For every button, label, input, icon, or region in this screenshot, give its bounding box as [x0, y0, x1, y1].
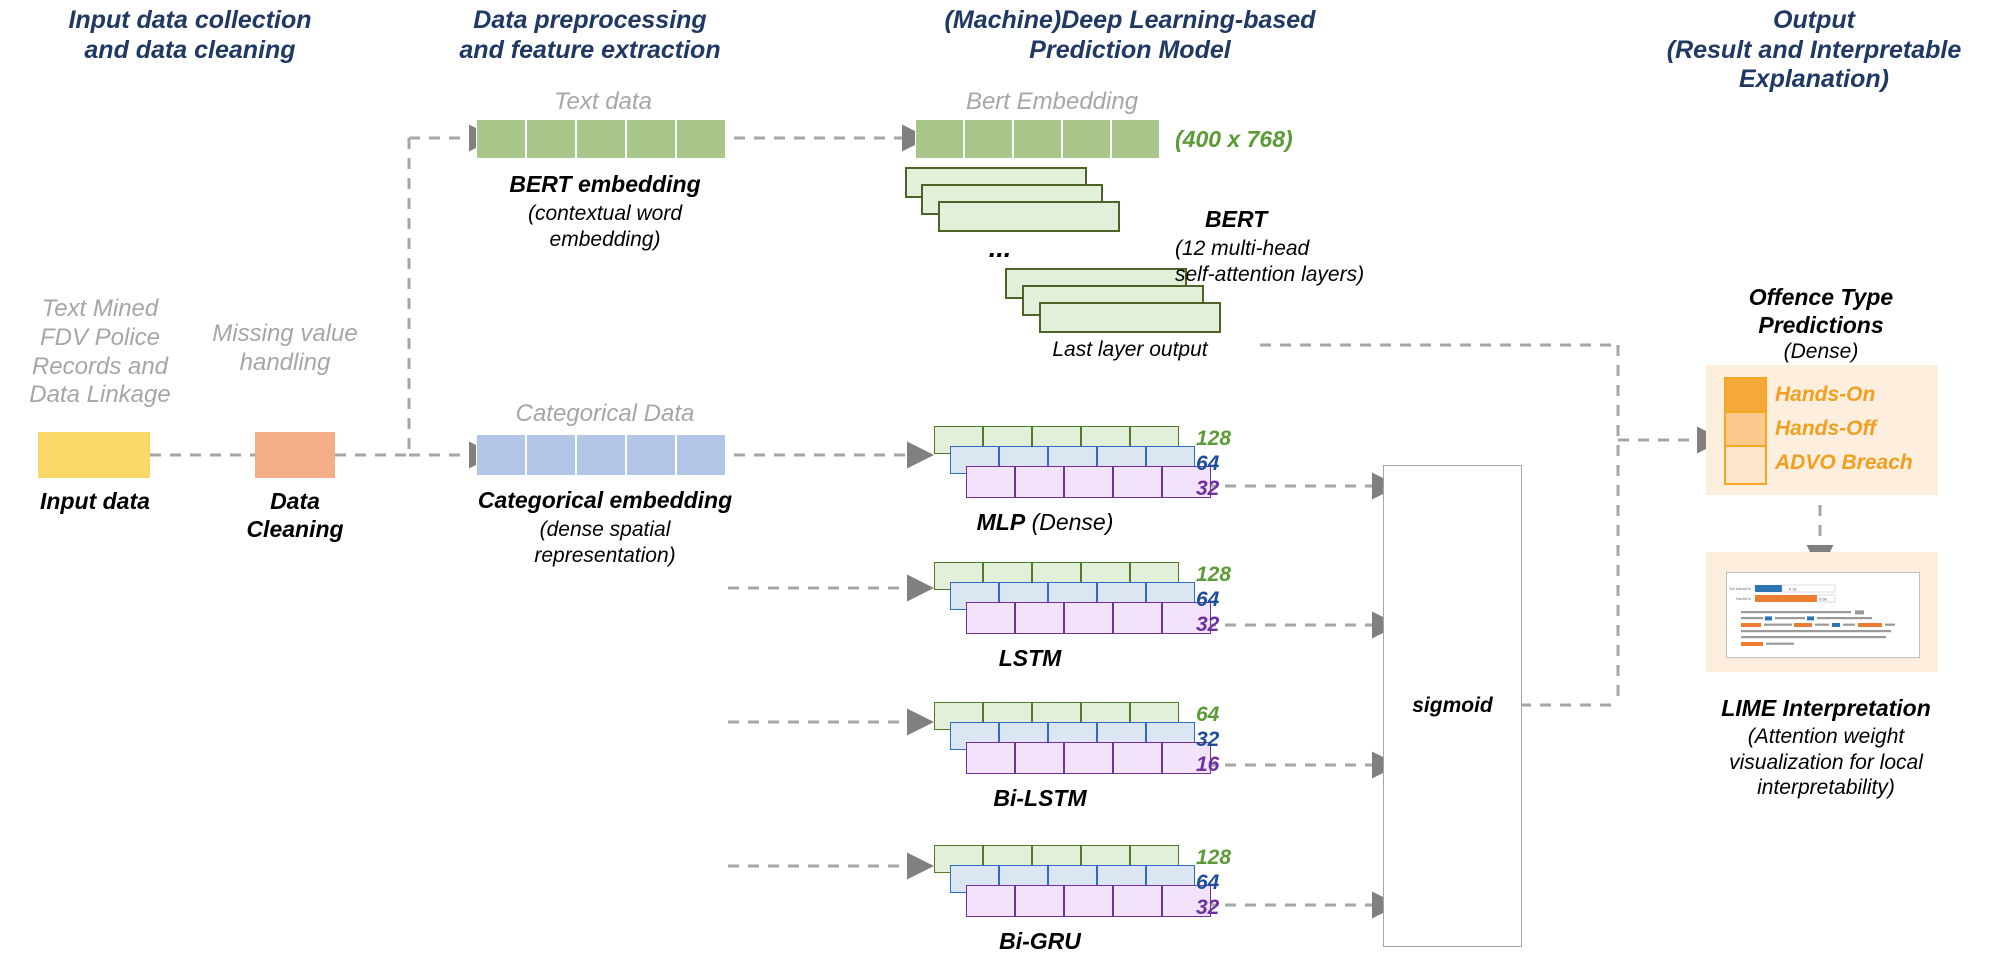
- prediction-label-advo-breach-text: ADVO Breach: [1775, 451, 1913, 474]
- mlp-dim-128: 128: [1196, 427, 1231, 451]
- prediction-label-hands-off-text: Hands-Off: [1775, 417, 1876, 440]
- text-data-header: Text data: [472, 88, 734, 117]
- text-data-cells[interactable]: [476, 119, 726, 159]
- input-data-box[interactable]: [38, 432, 150, 478]
- phase-header-model: (Machine)Deep Learning-based Prediction …: [930, 6, 1330, 65]
- bert-model-title: BERT: [1205, 206, 1267, 232]
- input-source-note: Text Mined FDV Police Records and Data L…: [10, 295, 190, 410]
- phase-header-preprocess: Data preprocessing and feature extractio…: [420, 6, 760, 65]
- lime-sub3: interpretability): [1757, 776, 1895, 799]
- mlp-dim-32: 32: [1196, 477, 1219, 501]
- phase-header-output: Output (Result and Interpretable Explana…: [1620, 6, 2008, 95]
- input-source-note-l1: Text Mined: [10, 295, 190, 324]
- lime-sub1: (Attention weight: [1748, 725, 1904, 748]
- bert-embedding-caption: BERT embedding (contextual word embeddin…: [455, 170, 755, 252]
- bilstm-dim-64: 64: [1196, 703, 1219, 727]
- predictions-title-l2: Predictions: [1758, 312, 1883, 338]
- lstm-dim-128-text: 128: [1196, 563, 1231, 586]
- phase-header-output-line1: Output: [1620, 6, 2008, 36]
- prediction-label-advo-breach: ADVO Breach: [1775, 451, 1913, 475]
- bilstm-dim-16-text: 16: [1196, 753, 1219, 776]
- prediction-label-hands-on: Hands-On: [1775, 383, 1875, 407]
- svg-text:HandsOn: HandsOn: [1736, 597, 1751, 601]
- prediction-cell-advo-breach[interactable]: [1724, 445, 1767, 485]
- lstm-title: LSTM: [999, 645, 1062, 671]
- bert-shape-text: (400 x 768): [1175, 126, 1293, 152]
- lstm-dim-64: 64: [1196, 588, 1219, 612]
- bigru-dim-64: 64: [1196, 871, 1219, 895]
- svg-text:Not HandsOn: Not HandsOn: [1729, 587, 1751, 591]
- svg-text:0.68: 0.68: [1819, 597, 1828, 602]
- categorical-embedding-caption: Categorical embedding (dense spatial rep…: [425, 486, 785, 568]
- lstm-dim-64-text: 64: [1196, 588, 1219, 611]
- bert-ellipsis-text: ...: [989, 233, 1012, 263]
- bigru-dim-128-text: 128: [1196, 846, 1231, 869]
- lstm-dim-32-text: 32: [1196, 613, 1219, 636]
- bert-ellipsis: ...: [960, 232, 1040, 265]
- phase-header-input-line1: Input data collection: [30, 6, 350, 36]
- bilstm-layer-purple: [966, 742, 1211, 774]
- bigru-dim-128: 128: [1196, 846, 1231, 870]
- phase-header-model-line2: Prediction Model: [930, 36, 1330, 66]
- predictions-title-l1: Offence Type: [1749, 284, 1893, 310]
- mlp-title: MLP: [977, 509, 1026, 535]
- prediction-label-hands-off: Hands-Off: [1775, 417, 1876, 441]
- bert-last-layer-label: Last layer output: [1000, 337, 1260, 363]
- bert-model-caption: BERT (12 multi-head self-attention layer…: [1175, 205, 1475, 287]
- bert-embedding-sub1: (contextual word: [528, 202, 682, 225]
- bilstm-dim-32: 32: [1196, 728, 1219, 752]
- lstm-dim-128: 128: [1196, 563, 1231, 587]
- bert-embedding-cells[interactable]: [915, 119, 1160, 159]
- lstm-caption: LSTM: [930, 644, 1130, 672]
- data-cleaning-label-l2: Cleaning: [246, 516, 343, 542]
- phase-header-model-line1: (Machine)Deep Learning-based: [930, 6, 1330, 36]
- bert-embedding-sub2: embedding): [550, 228, 661, 251]
- bigru-caption: Bi-GRU: [930, 927, 1150, 955]
- bert-model-sub2: self-attention layers): [1175, 263, 1364, 286]
- sigmoid-box[interactable]: sigmoid: [1383, 465, 1522, 947]
- cleaning-note-l2: handling: [185, 349, 385, 378]
- bigru-dim-64-text: 64: [1196, 871, 1219, 894]
- lime-thumbnail[interactable]: Not HandsOn HandsOn 0.32 0.68: [1726, 572, 1920, 658]
- predictions-subtitle: (Dense): [1784, 340, 1859, 363]
- categorical-data-cells[interactable]: [476, 434, 726, 476]
- data-cleaning-label: Data Cleaning: [205, 487, 385, 543]
- bilstm-dim-32-text: 32: [1196, 728, 1219, 751]
- phase-header-input: Input data collection and data cleaning: [30, 6, 350, 65]
- mlp-layer-purple: [966, 466, 1211, 498]
- phase-header-preprocess-line1: Data preprocessing: [420, 6, 760, 36]
- mlp-dim-128-text: 128: [1196, 427, 1231, 450]
- bilstm-dim-64-text: 64: [1196, 703, 1219, 726]
- input-data-label-text: Input data: [40, 488, 150, 514]
- input-source-note-l3: Records and: [10, 353, 190, 382]
- bert-embedding-header: Bert Embedding: [912, 88, 1192, 117]
- sigmoid-label: sigmoid: [1384, 694, 1521, 718]
- categorical-embedding-sub1: (dense spatial: [540, 518, 671, 541]
- categorical-embedding-sub2: representation): [534, 544, 675, 567]
- lime-caption: LIME Interpretation (Attention weight vi…: [1676, 694, 1976, 801]
- input-data-label: Input data: [10, 487, 180, 515]
- lstm-dim-32: 32: [1196, 613, 1219, 637]
- mlp-dim-64-text: 64: [1196, 452, 1219, 475]
- cleaning-note-l1: Missing value: [185, 320, 385, 349]
- phase-header-preprocess-line2: and feature extraction: [420, 36, 760, 66]
- bert-embedding-header-text: Bert Embedding: [966, 88, 1138, 115]
- bert-layer-last: [1039, 302, 1221, 333]
- mlp-dim-64: 64: [1196, 452, 1219, 476]
- text-data-header-text: Text data: [554, 88, 652, 115]
- bigru-title: Bi-GRU: [999, 928, 1081, 954]
- lime-sub2: visualization for local: [1729, 751, 1923, 774]
- bert-last-layer-text: Last layer output: [1052, 338, 1207, 361]
- bert-embedding-title: BERT embedding: [509, 171, 700, 197]
- mlp-dim-32-text: 32: [1196, 477, 1219, 500]
- lstm-layer-purple: [966, 602, 1211, 634]
- lime-thumbnail-graphic: Not HandsOn HandsOn 0.32 0.68: [1727, 573, 1919, 657]
- bert-shape-label: (400 x 768): [1175, 126, 1293, 153]
- prediction-label-hands-on-text: Hands-On: [1775, 383, 1875, 406]
- predictions-caption: Offence Type Predictions (Dense): [1690, 283, 1952, 365]
- bert-model-sub1: (12 multi-head: [1175, 237, 1309, 260]
- phase-header-output-line2: (Result and Interpretable Explanation): [1620, 36, 2008, 95]
- categorical-data-header: Categorical Data: [450, 400, 760, 429]
- bigru-dim-32-text: 32: [1196, 896, 1219, 919]
- bigru-layer-purple: [966, 885, 1211, 917]
- cleaning-note: Missing value handling: [185, 320, 385, 378]
- bilstm-title: Bi-LSTM: [993, 785, 1086, 811]
- bigru-dim-32: 32: [1196, 896, 1219, 920]
- input-source-note-l2: FDV Police: [10, 324, 190, 353]
- mlp-caption: MLP (Dense): [930, 508, 1160, 536]
- bert-layer-3: [938, 201, 1120, 232]
- svg-text:0.32: 0.32: [1789, 587, 1798, 592]
- diagram-canvas: Input data collection and data cleaning …: [0, 0, 2008, 970]
- bilstm-caption: Bi-LSTM: [930, 784, 1150, 812]
- categorical-embedding-title: Categorical embedding: [478, 487, 732, 513]
- data-cleaning-label-l1: Data: [270, 488, 320, 514]
- bilstm-dim-16: 16: [1196, 753, 1219, 777]
- mlp-suffix: (Dense): [1032, 509, 1114, 535]
- phase-header-input-line2: and data cleaning: [30, 36, 350, 66]
- categorical-data-header-text: Categorical Data: [516, 400, 695, 427]
- data-cleaning-box[interactable]: [255, 432, 335, 478]
- input-source-note-l4: Data Linkage: [10, 381, 190, 410]
- lime-title: LIME Interpretation: [1721, 695, 1931, 721]
